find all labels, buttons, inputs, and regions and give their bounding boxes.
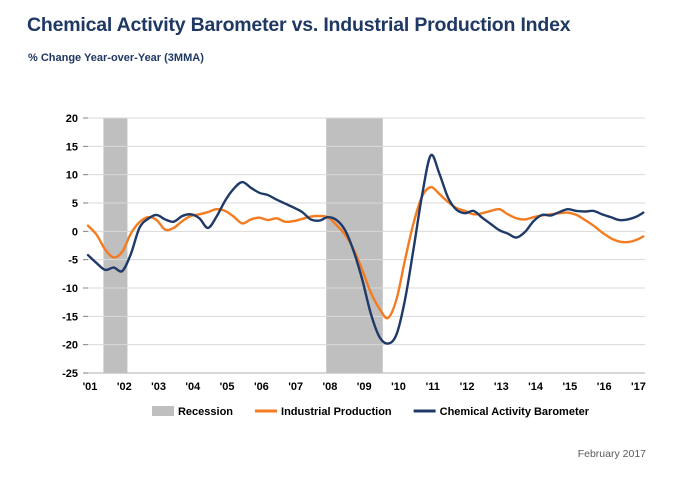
page-title: Chemical Activity Barometer vs. Industri…: [27, 14, 570, 37]
x-axis-label: '12: [460, 381, 475, 393]
x-axis-label: '17: [631, 381, 646, 393]
legend-label-recession: Recession: [178, 406, 233, 418]
x-axis-label: '05: [220, 381, 235, 393]
x-axis-label: '13: [494, 381, 509, 393]
x-axis-label: '16: [597, 381, 612, 393]
y-axis-label: -5: [68, 255, 78, 267]
x-axis-label: '08: [323, 381, 338, 393]
x-axis-label: '11: [426, 381, 440, 393]
legend-label-chemical-activity-barometer: Chemical Activity Barometer: [440, 406, 590, 418]
y-axis-label: -15: [62, 311, 78, 323]
y-axis-label: 20: [66, 113, 78, 125]
legend-label-industrial-production: Industrial Production: [281, 406, 392, 418]
x-axis-label: '06: [254, 381, 269, 393]
x-axis-label: '15: [562, 381, 577, 393]
recession-band-0: [103, 118, 127, 373]
recession-band-1: [326, 118, 383, 373]
x-axis-label: '10: [391, 381, 406, 393]
chart-plot: 20151050-5-10-15-20-25 '01'02'03'04'05'0…: [0, 0, 680, 478]
y-axis-label: -25: [62, 368, 78, 380]
x-axis-label: '01: [83, 381, 98, 393]
x-axis-label: '03: [151, 381, 166, 393]
chart-legend: RecessionIndustrial ProductionChemical A…: [152, 406, 590, 418]
legend-swatch-recession: [152, 406, 174, 416]
y-axis-label: -20: [62, 340, 78, 352]
x-axis-label: '02: [117, 381, 132, 393]
x-axis-label: '09: [357, 381, 372, 393]
y-axis-label: -10: [62, 283, 78, 295]
y-axis-label: 15: [66, 141, 78, 153]
report-date: February 2017: [578, 448, 646, 460]
x-axis-labels-group: '01'02'03'04'05'06'07'08'09'10'11'12'13'…: [83, 381, 646, 393]
x-axis-label: '07: [288, 381, 303, 393]
x-axis-label: '04: [185, 381, 201, 393]
y-axis-label: 0: [72, 226, 78, 238]
chart-subtitle: % Change Year-over-Year (3MMA): [28, 52, 204, 64]
chart-container: Chemical Activity Barometer vs. Industri…: [0, 0, 680, 478]
y-axis-label: 5: [72, 198, 78, 210]
recession-bands-group: [103, 118, 382, 373]
y-tick-marks-group: [83, 118, 88, 373]
y-axis-labels-group: 20151050-5-10-15-20-25: [62, 113, 78, 380]
y-axis-label: 10: [66, 170, 78, 182]
x-axis-label: '14: [528, 381, 544, 393]
